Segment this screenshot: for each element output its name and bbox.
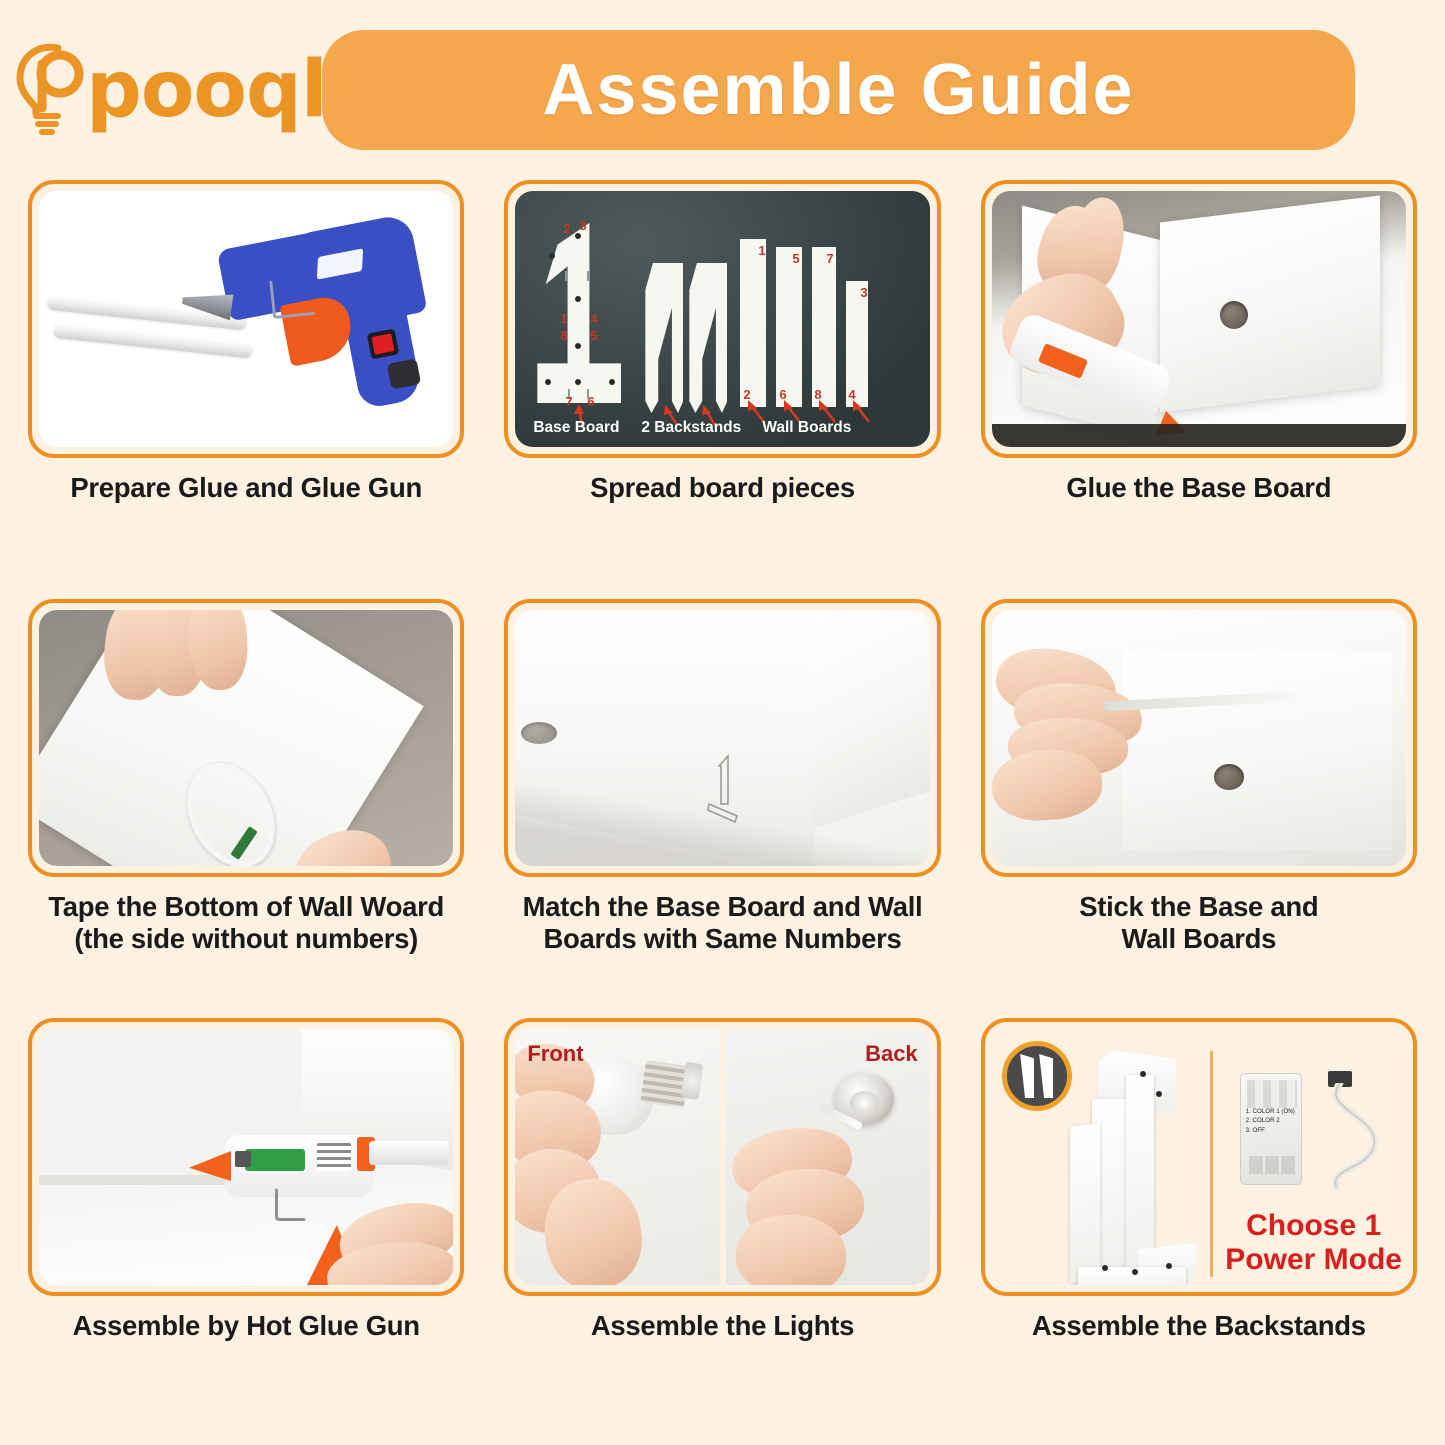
- two-backstands-icon: [1002, 1041, 1072, 1111]
- blue-glue-gun-and-glue-sticks-photo: [39, 191, 453, 447]
- step-3-card: [981, 180, 1417, 458]
- step-9-card: 1. COLOR 1 (ON) 2. COLOR 2 3. OFF Choose…: [981, 1018, 1417, 1296]
- diagram-label-backstands: 2 Backstands: [641, 419, 741, 437]
- step-6-caption-line2: Wall Boards: [1079, 923, 1318, 955]
- front-label: Front: [527, 1041, 583, 1067]
- step-9-caption: Assemble the Backstands: [1032, 1310, 1366, 1342]
- power-mode-line2: Power Mode: [1224, 1243, 1404, 1277]
- backstand-piece: [689, 263, 727, 413]
- step-7-caption: Assemble by Hot Glue Gun: [73, 1310, 420, 1342]
- diagram-label-wall-boards: Wall Boards: [762, 419, 851, 437]
- back-label: Back: [865, 1041, 918, 1067]
- step-4: Tape the Bottom of Wall Woard (the side …: [28, 599, 464, 1006]
- usb-cable-wire: [1314, 1083, 1398, 1191]
- step-4-caption: Tape the Bottom of Wall Woard (the side …: [48, 891, 444, 956]
- title-banner: Assemble Guide: [322, 30, 1355, 150]
- base-board-number: 7: [565, 394, 572, 409]
- taping-wall-board-photo: [39, 610, 453, 866]
- page-header: pooqla Assemble Guide: [0, 0, 1445, 180]
- front-view: Front: [515, 1029, 719, 1285]
- hands-gluing-base-board-photo: [992, 191, 1406, 447]
- sticking-boards-photo: [992, 610, 1406, 866]
- step-5-caption: Match the Base Board and Wall Boards wit…: [523, 891, 923, 956]
- base-board-number: 2: [563, 221, 570, 236]
- step-8-card: Front Back: [504, 1018, 940, 1296]
- wall-board-number-top: 3: [860, 285, 867, 300]
- base-board-number: 8: [560, 328, 567, 343]
- wall-board-number-top: 7: [826, 251, 833, 266]
- base-board-number: 5: [590, 328, 597, 343]
- step-1-card: [28, 180, 464, 458]
- step-6: Stick the Base and Wall Boards: [981, 599, 1417, 1006]
- backstand-piece: [645, 263, 683, 413]
- base-board-number: 1: [560, 311, 567, 326]
- step-5-caption-line1: Match the Base Board and Wall: [523, 891, 923, 923]
- wall-board-number-top: 1: [758, 243, 765, 258]
- step-7: Assemble by Hot Glue Gun: [28, 1018, 464, 1425]
- step-4-card: [28, 599, 464, 877]
- power-mode-line1: Choose 1: [1224, 1209, 1404, 1243]
- step-3: Glue the Base Board: [981, 180, 1417, 587]
- backstands-and-power-photo: 1. COLOR 1 (ON) 2. COLOR 2 3. OFF Choose…: [992, 1029, 1406, 1285]
- step-1-caption: Prepare Glue and Glue Gun: [70, 472, 422, 504]
- battery-mode-2: 2. COLOR 2: [1246, 1116, 1295, 1125]
- battery-mode-3: 3. OFF: [1246, 1126, 1295, 1135]
- base-board-number: 3: [579, 218, 586, 233]
- step-6-caption: Stick the Base and Wall Boards: [1079, 891, 1318, 956]
- wall-board-number-top: 5: [792, 251, 799, 266]
- step-8: Front Back: [504, 1018, 940, 1425]
- step-9: 1. COLOR 1 (ON) 2. COLOR 2 3. OFF Choose…: [981, 1018, 1417, 1425]
- hot-glue-gun-assembly-photo: [39, 1029, 453, 1285]
- base-board-piece: [537, 223, 621, 403]
- battery-mode-list: 1. COLOR 1 (ON) 2. COLOR 2 3. OFF: [1246, 1107, 1295, 1135]
- wall-board-piece: [812, 247, 836, 407]
- step-6-caption-line1: Stick the Base and: [1079, 891, 1318, 923]
- brand-logo: pooqla: [12, 38, 312, 142]
- diagram-label-base-board: Base Board: [533, 419, 619, 437]
- step-2-caption: Spread board pieces: [590, 472, 855, 504]
- step-4-caption-line2: (the side without numbers): [48, 923, 444, 955]
- steps-grid: Prepare Glue and Glue Gun 2 3 1: [0, 180, 1445, 1425]
- step-7-card: [28, 1018, 464, 1296]
- step-4-caption-line1: Tape the Bottom of Wall Woard: [48, 891, 444, 923]
- step-5-caption-line2: Boards with Same Numbers: [523, 923, 923, 955]
- step-6-card: [981, 599, 1417, 877]
- step-3-caption: Glue the Base Board: [1066, 472, 1331, 504]
- battery-mode-1: 1. COLOR 1 (ON): [1246, 1107, 1295, 1116]
- page-title: Assemble Guide: [542, 49, 1134, 131]
- step-5: Match the Base Board and Wall Boards wit…: [504, 599, 940, 1006]
- wall-board-piece: [740, 239, 766, 407]
- step-2: 2 3 1 4 8 5 7 6 1 5 7 3 2: [504, 180, 940, 587]
- step-8-caption: Assemble the Lights: [591, 1310, 854, 1342]
- base-board-number: 4: [590, 311, 597, 326]
- matching-numbers-photo: [515, 610, 929, 866]
- board-pieces-diagram: 2 3 1 4 8 5 7 6 1 5 7 3 2: [515, 191, 929, 447]
- back-view: Back: [726, 1029, 930, 1285]
- wall-board-piece: [776, 247, 802, 407]
- step-2-card: 2 3 1 4 8 5 7 6 1 5 7 3 2: [504, 180, 940, 458]
- lightbulb-icon: [12, 38, 88, 142]
- pointer-arrow: [852, 399, 872, 423]
- bulb-and-socket-photo: Front Back: [515, 1029, 929, 1285]
- step-5-card: [504, 599, 940, 877]
- power-mode-callout: Choose 1 Power Mode: [1224, 1209, 1404, 1276]
- step-1: Prepare Glue and Glue Gun: [28, 180, 464, 587]
